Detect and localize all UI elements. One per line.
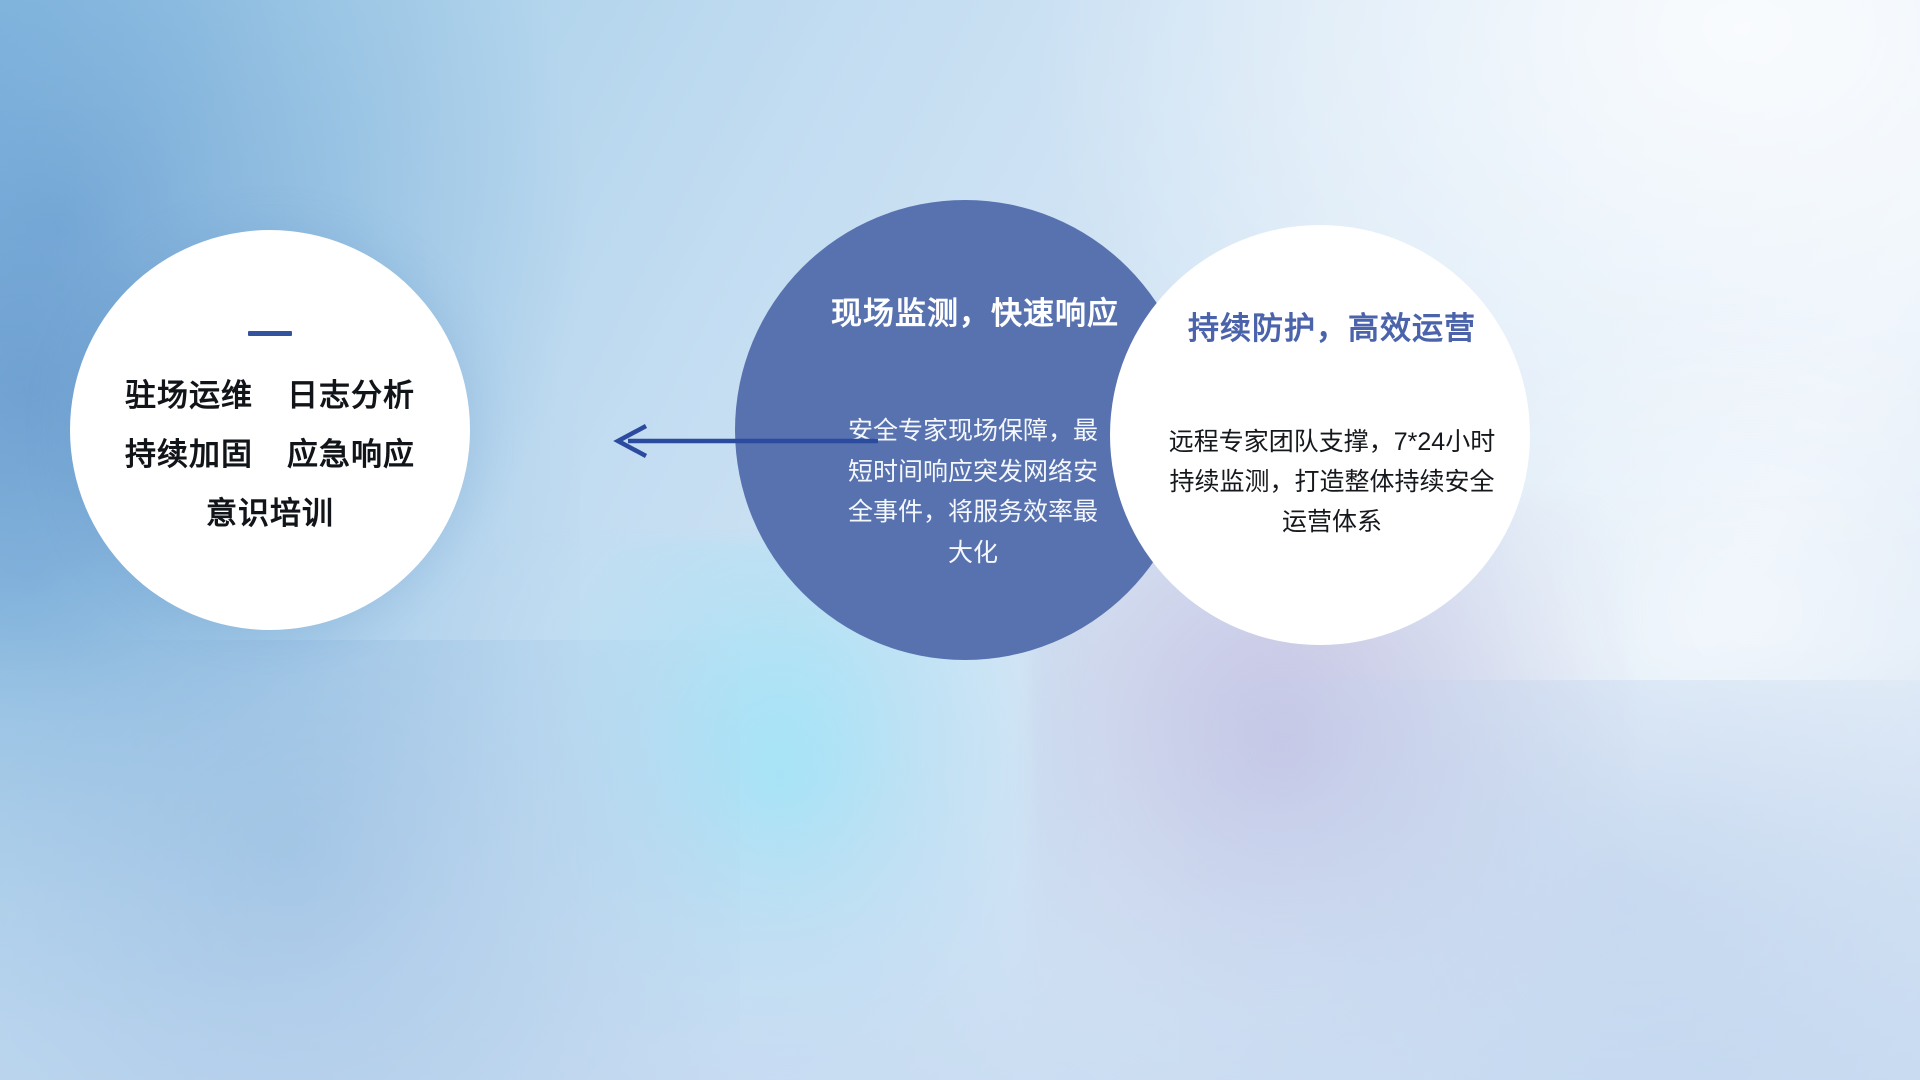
background-bottom-right-glow <box>1180 680 1920 1080</box>
left-circle-tag: 应急响应 <box>287 439 415 470</box>
right-circle-heading: 持续防护，高效运营 <box>1188 303 1476 348</box>
arrow-left-icon <box>600 418 880 464</box>
left-circle-row-1: 驻场运维 日志分析 <box>125 380 415 411</box>
left-circle-tag: 驻场运维 <box>125 380 253 411</box>
left-circle-row-3: 意识培训 <box>206 498 334 529</box>
right-circle-content: 持续防护，高效运营 远程专家团队支撑，7*24小时持续监测，打造整体持续安全运营… <box>1110 225 1530 645</box>
left-circle-tag: 意识培训 <box>206 498 334 529</box>
horizontal-dash-icon <box>248 331 292 336</box>
left-circle-tag: 持续加固 <box>125 439 253 470</box>
right-circle-body: 远程专家团队支撑，7*24小时持续监测，打造整体持续安全运营体系 <box>1164 422 1500 542</box>
right-operations-circle[interactable]: 持续防护，高效运营 远程专家团队支撑，7*24小时持续监测，打造整体持续安全运营… <box>1110 225 1530 645</box>
left-circle-content: 驻场运维 日志分析 持续加固 应急响应 意识培训 <box>70 230 470 630</box>
left-service-circle[interactable]: 驻场运维 日志分析 持续加固 应急响应 意识培训 <box>70 230 470 630</box>
middle-circle-heading: 现场监测，快速响应 <box>831 288 1119 333</box>
left-circle-tag: 日志分析 <box>287 380 415 411</box>
background-bottom-left-glow <box>0 640 740 1080</box>
left-circle-row-2: 持续加固 应急响应 <box>125 439 415 470</box>
